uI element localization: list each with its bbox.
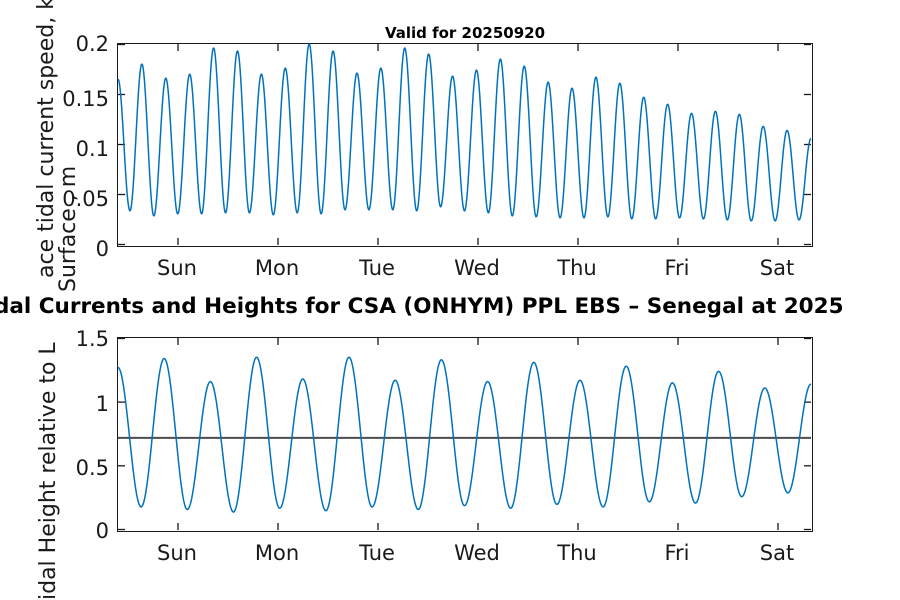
bottom-ytick-1: 1 xyxy=(41,392,109,416)
top-ytick-015: 0.15 xyxy=(41,87,109,111)
bottom-ytick-0: 0 xyxy=(41,519,109,543)
bottom-ytick-15: 1.5 xyxy=(41,327,109,351)
top-xtick-sat: Sat xyxy=(737,256,817,280)
bottom-panel-axes xyxy=(117,337,813,532)
bottom-xtick-sat: Sat xyxy=(737,541,817,565)
top-xtick-tue: Tue xyxy=(337,256,417,280)
top-ytick-02: 0.2 xyxy=(41,32,109,56)
main-title: dal Currents and Heights for CSA (ONHYM)… xyxy=(0,294,844,319)
bottom-ytick-05: 0.5 xyxy=(41,456,109,480)
bottom-xtick-sun: Sun xyxy=(137,541,217,565)
top-xtick-wed: Wed xyxy=(437,256,517,280)
top-xtick-mon: Mon xyxy=(237,256,317,280)
top-panel-ytick-marks xyxy=(118,45,811,245)
bottom-panel-plot xyxy=(118,338,811,530)
top-xtick-thu: Thu xyxy=(537,256,617,280)
tidal-height-curve xyxy=(118,357,811,512)
top-xtick-sun: Sun xyxy=(137,256,217,280)
bottom-xtick-mon: Mon xyxy=(237,541,317,565)
bottom-xtick-fri: Fri xyxy=(637,541,717,565)
top-ytick-005: 0.05 xyxy=(41,187,109,211)
top-panel-ylabel-units-overlap: Surface , m xyxy=(56,166,81,292)
top-panel-axes xyxy=(117,43,813,247)
figure-canvas: Valid for 20250920 ace tidal current spe… xyxy=(0,0,900,600)
top-panel-plot xyxy=(118,44,811,245)
top-ytick-01: 0.1 xyxy=(41,137,109,161)
current-speed-curve xyxy=(118,44,811,221)
bottom-xtick-thu: Thu xyxy=(537,541,617,565)
top-ytick-0: 0 xyxy=(41,237,109,261)
top-xtick-fri: Fri xyxy=(637,256,717,280)
bottom-xtick-wed: Wed xyxy=(437,541,517,565)
top-panel-title: Valid for 20250920 xyxy=(117,24,813,42)
bottom-xtick-tue: Tue xyxy=(337,541,417,565)
